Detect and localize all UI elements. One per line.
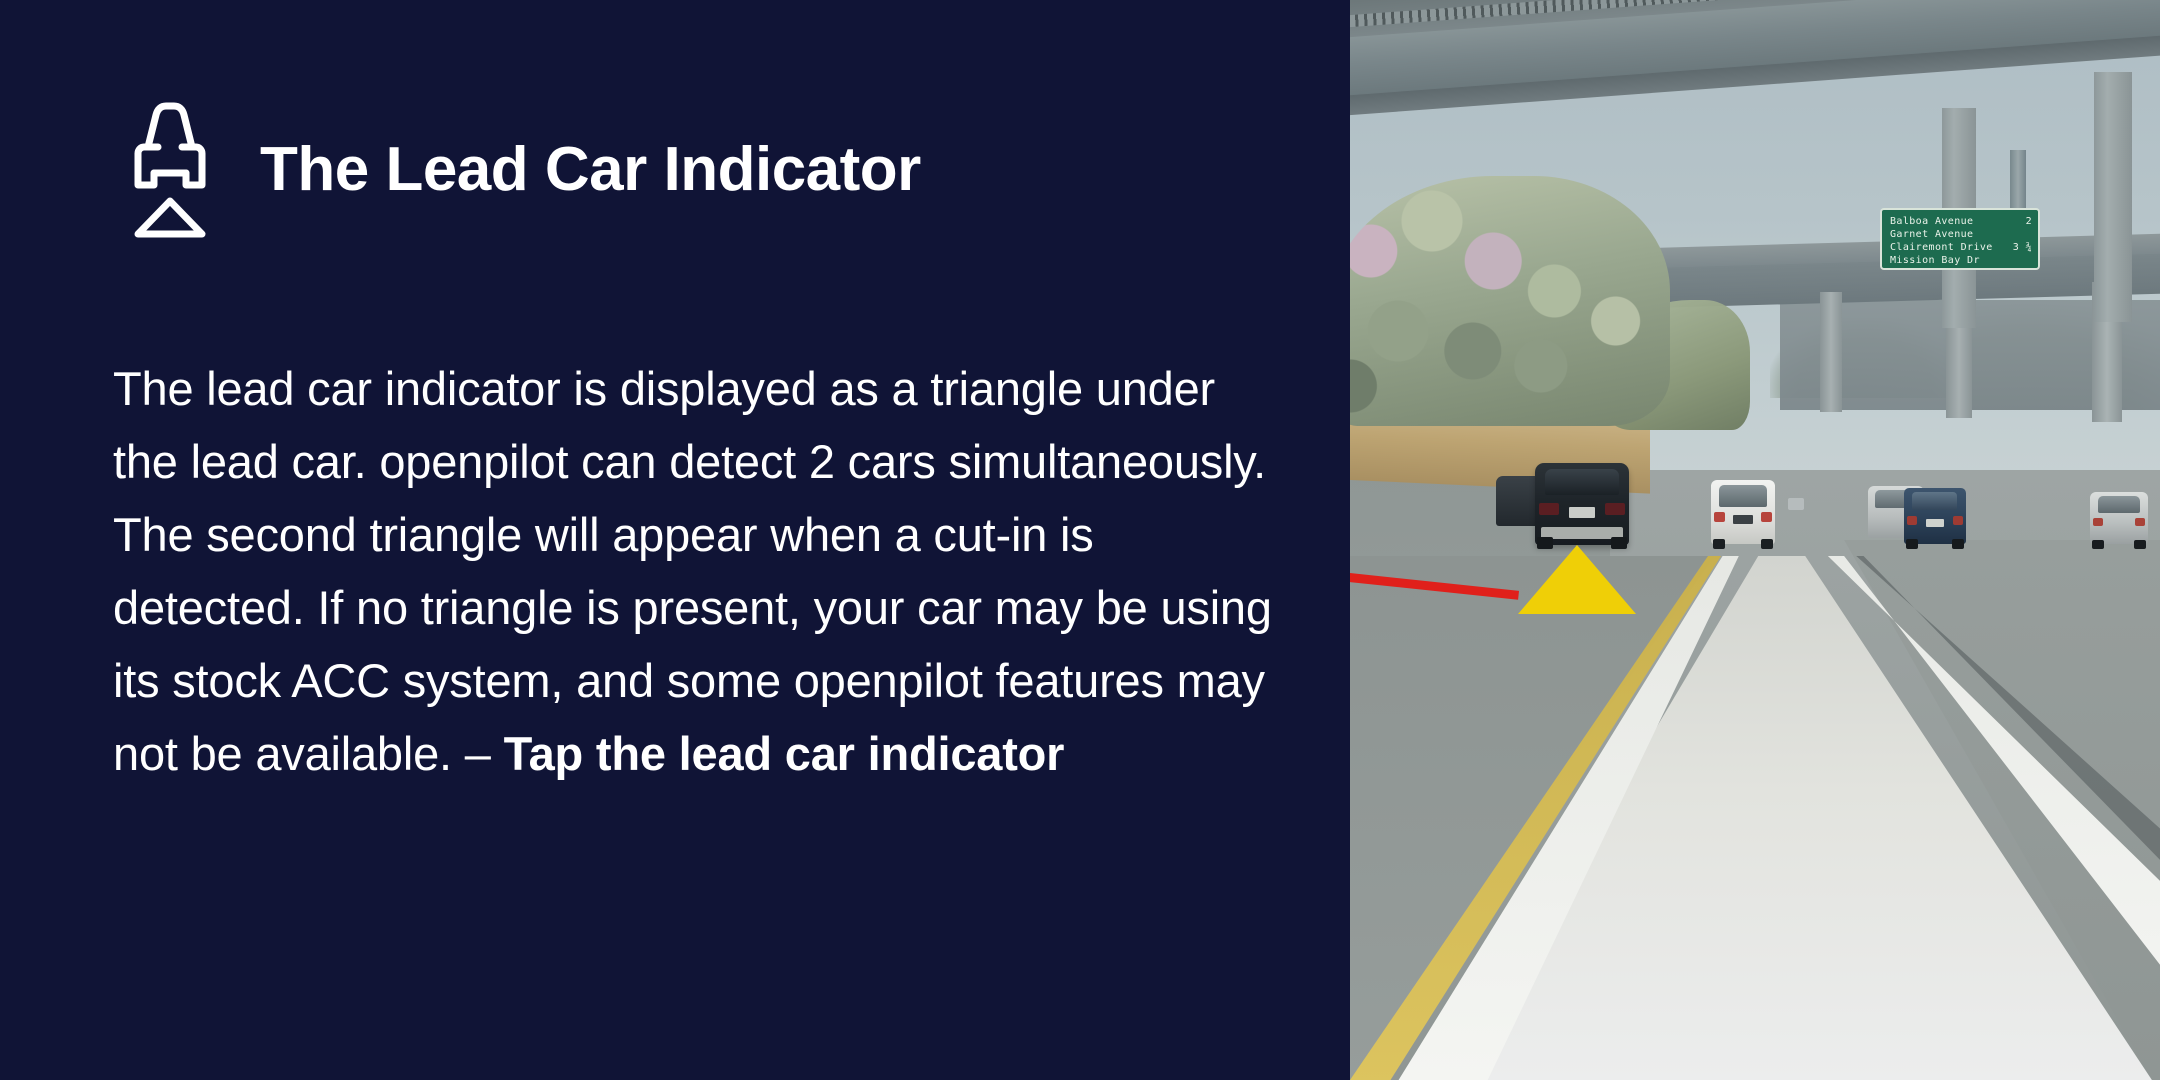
vehicle-rear-window [1545,469,1619,495]
vehicle-distant [1788,498,1804,510]
sign-street-4: Mission Bay Dr [1890,254,1980,267]
body-text-regular: The lead car indicator is displayed as a… [113,362,1272,780]
vehicle-blue-pickup [1904,488,1966,544]
taillight-left [1539,503,1559,515]
tire-right [2134,540,2146,549]
sign-exit-1: 2 [2020,215,2032,228]
highway-exit-sign: Balboa Avenue 2 Garnet Avenue Clairemont… [1880,208,2040,270]
info-panel: The Lead Car Indicator The lead car indi… [0,0,1350,1080]
vehicle-rear-window [1912,492,1957,510]
sign-row: Mission Bay Dr [1890,254,2032,267]
taillight-right [1605,503,1625,515]
sign-row: Clairemont Drive 3 ¾ [1890,241,2032,254]
taillight-left [1907,516,1917,525]
vehicle-silver-hatchback [2090,492,2148,544]
sign-street-2: Garnet Avenue [1890,228,1973,241]
sign-street-3: Clairemont Drive [1890,241,1993,254]
taillight-right [1953,516,1963,525]
roadside-flowering-vegetation [1350,176,1670,426]
tire-right [1761,539,1773,549]
vehicle-white-suv [1711,480,1775,544]
sign-row: Garnet Avenue [1890,228,2032,241]
lead-car-indicator-icon [118,95,222,245]
vehicle-lead-dark-suv [1535,463,1629,545]
tire-left [2092,540,2104,549]
slide-root: The Lead Car Indicator The lead car indi… [0,0,2160,1080]
lower-overpass-pier-1 [1820,292,1842,412]
vehicle-rear-window [1719,485,1767,507]
tire-left [1906,539,1918,549]
body-text-emphasis: Tap the lead car indicator [504,727,1065,780]
license-plate [1569,507,1595,518]
tire-left [1713,539,1725,549]
vehicle-rear-window [2098,496,2140,513]
tire-right [1611,537,1627,549]
upper-overpass-pier-2 [2094,72,2132,322]
page-title: The Lead Car Indicator [260,139,921,201]
sign-row: Balboa Avenue 2 [1890,215,2032,228]
taillight-left [1714,512,1725,522]
license-plate [1926,519,1944,527]
taillight-left [2093,518,2103,526]
driving-camera-photo: Balboa Avenue 2 Garnet Avenue Clairemont… [1350,0,2160,1080]
tire-right [1952,539,1964,549]
sign-exit-3: 3 ¾ [2007,241,2032,254]
taillight-right [1761,512,1772,522]
panel-body-text: The lead car indicator is displayed as a… [113,352,1273,790]
tire-left [1537,537,1553,549]
panel-header: The Lead Car Indicator [118,95,921,245]
taillight-right [2135,518,2145,526]
sign-street-1: Balboa Avenue [1890,215,1973,228]
license-plate [1733,515,1753,524]
